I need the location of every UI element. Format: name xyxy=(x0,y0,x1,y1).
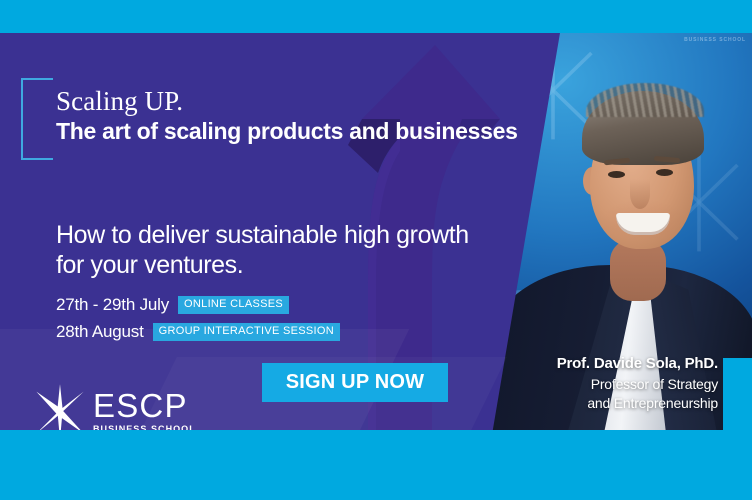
subheading: How to deliver sustainable high growth f… xyxy=(56,221,486,280)
top-color-band xyxy=(0,0,752,33)
headline-line-2: The art of scaling products and business… xyxy=(56,118,536,146)
banner-content-stage: BUSINESS SCHOOL CP xyxy=(0,33,752,430)
bottom-color-band xyxy=(0,430,752,500)
speaker-name: Prof. Davide Sola, PhD. xyxy=(498,355,718,374)
speaker-caption: Prof. Davide Sola, PhD. Professor of Str… xyxy=(498,355,718,413)
bracket-decoration xyxy=(21,78,53,160)
date-badge: ONLINE CLASSES xyxy=(178,296,289,314)
headline-line-1: Scaling UP. xyxy=(56,86,536,116)
corner-accent-block xyxy=(723,358,752,430)
date-text: 27th - 29th July xyxy=(56,295,169,315)
escp-logo: ESCP BUSINESS SCHOOL xyxy=(33,383,196,430)
escp-star-icon xyxy=(33,383,87,430)
speaker-role-line-2: and Entrepreneurship xyxy=(498,395,718,413)
escp-logo-name: ESCP xyxy=(93,390,196,421)
date-badge: GROUP INTERACTIVE SESSION xyxy=(153,323,340,341)
date-row: 28th August GROUP INTERACTIVE SESSION xyxy=(56,320,340,344)
speaker-role-line-1: Professor of Strategy xyxy=(498,376,718,394)
escp-logo-text: ESCP BUSINESS SCHOOL xyxy=(93,390,196,430)
headline-block: Scaling UP. The art of scaling products … xyxy=(56,86,536,146)
dates-block: 27th - 29th July ONLINE CLASSES 28th Aug… xyxy=(56,293,340,347)
sign-up-now-button[interactable]: SIGN UP NOW xyxy=(262,363,448,402)
date-row: 27th - 29th July ONLINE CLASSES xyxy=(56,293,340,317)
promotional-banner: BUSINESS SCHOOL CP xyxy=(0,0,752,500)
date-text: 28th August xyxy=(56,322,144,342)
